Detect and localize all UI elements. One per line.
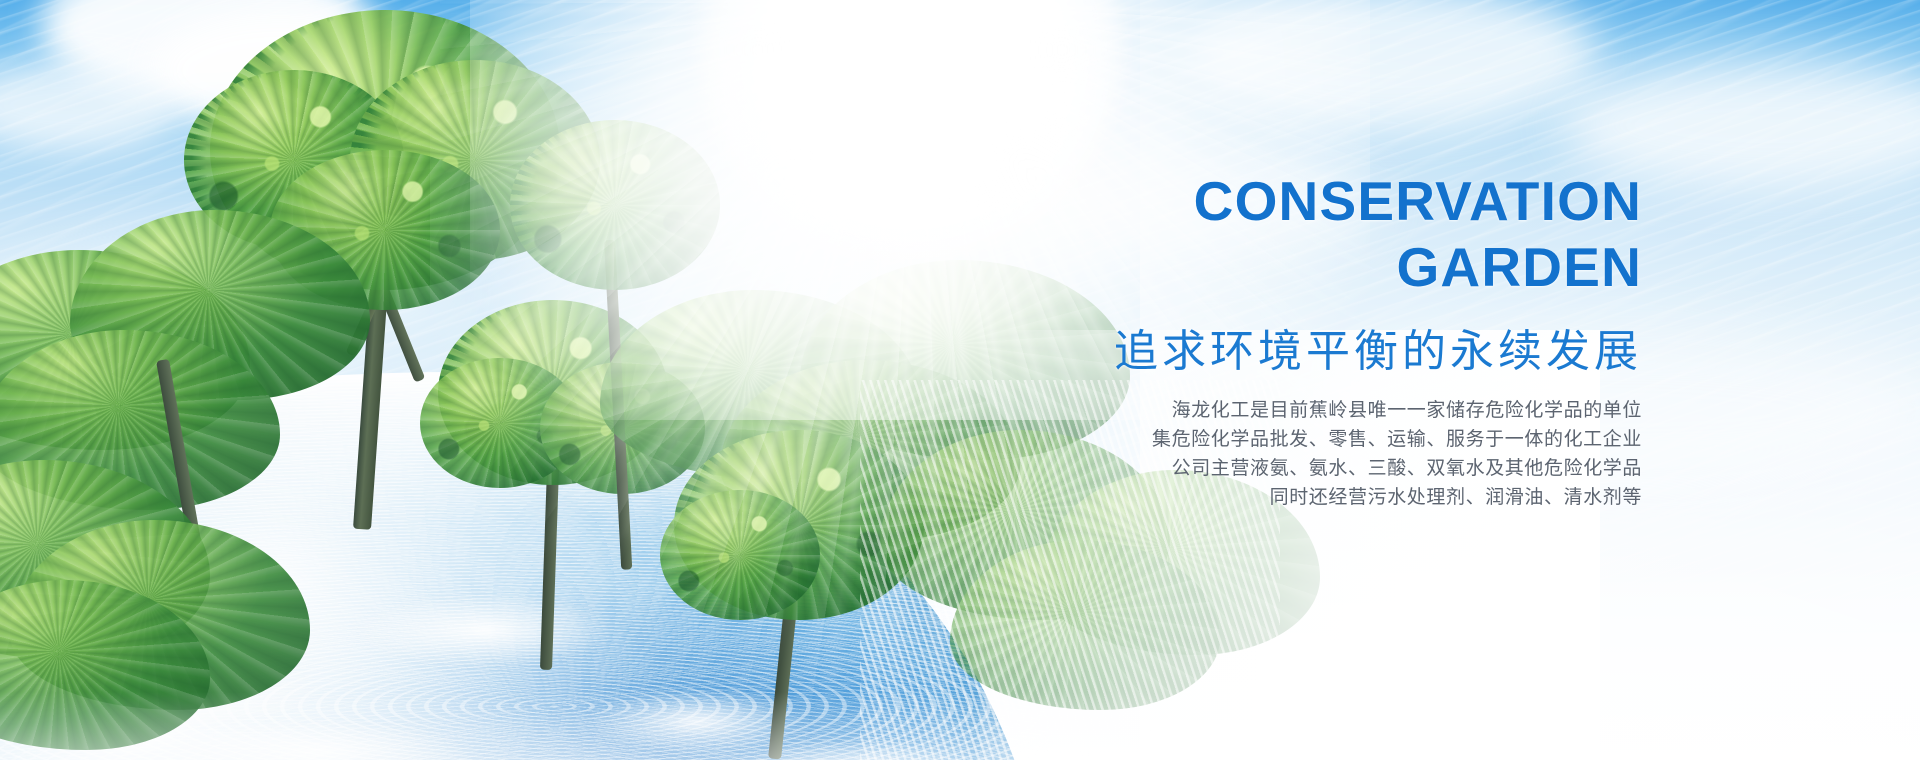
banner-description: 海龙化工是目前蕉岭县唯一一家储存危险化学品的单位 集危险化学品批发、零售、运输、…	[822, 396, 1642, 512]
headline-english-line2: GARDEN	[822, 234, 1642, 300]
banner-copy: CONSERVATION GARDEN 追求环境平衡的永续发展 海龙化工是目前蕉…	[822, 168, 1642, 512]
tree-cluster-bottom-left	[0, 400, 350, 760]
description-line: 公司主营液氨、氨水、三酸、双氧水及其他危险化学品	[822, 454, 1642, 483]
hero-banner: CONSERVATION GARDEN 追求环境平衡的永续发展 海龙化工是目前蕉…	[0, 0, 1920, 760]
description-line: 海龙化工是目前蕉岭县唯一一家储存危险化学品的单位	[822, 396, 1642, 425]
headline-english-line1: CONSERVATION	[822, 168, 1642, 234]
description-line: 同时还经营污水处理剂、润滑油、清水剂等	[822, 483, 1642, 512]
headline-chinese: 追求环境平衡的永续发展	[822, 324, 1642, 380]
description-line: 集危险化学品批发、零售、运输、服务于一体的化工企业	[822, 425, 1642, 454]
